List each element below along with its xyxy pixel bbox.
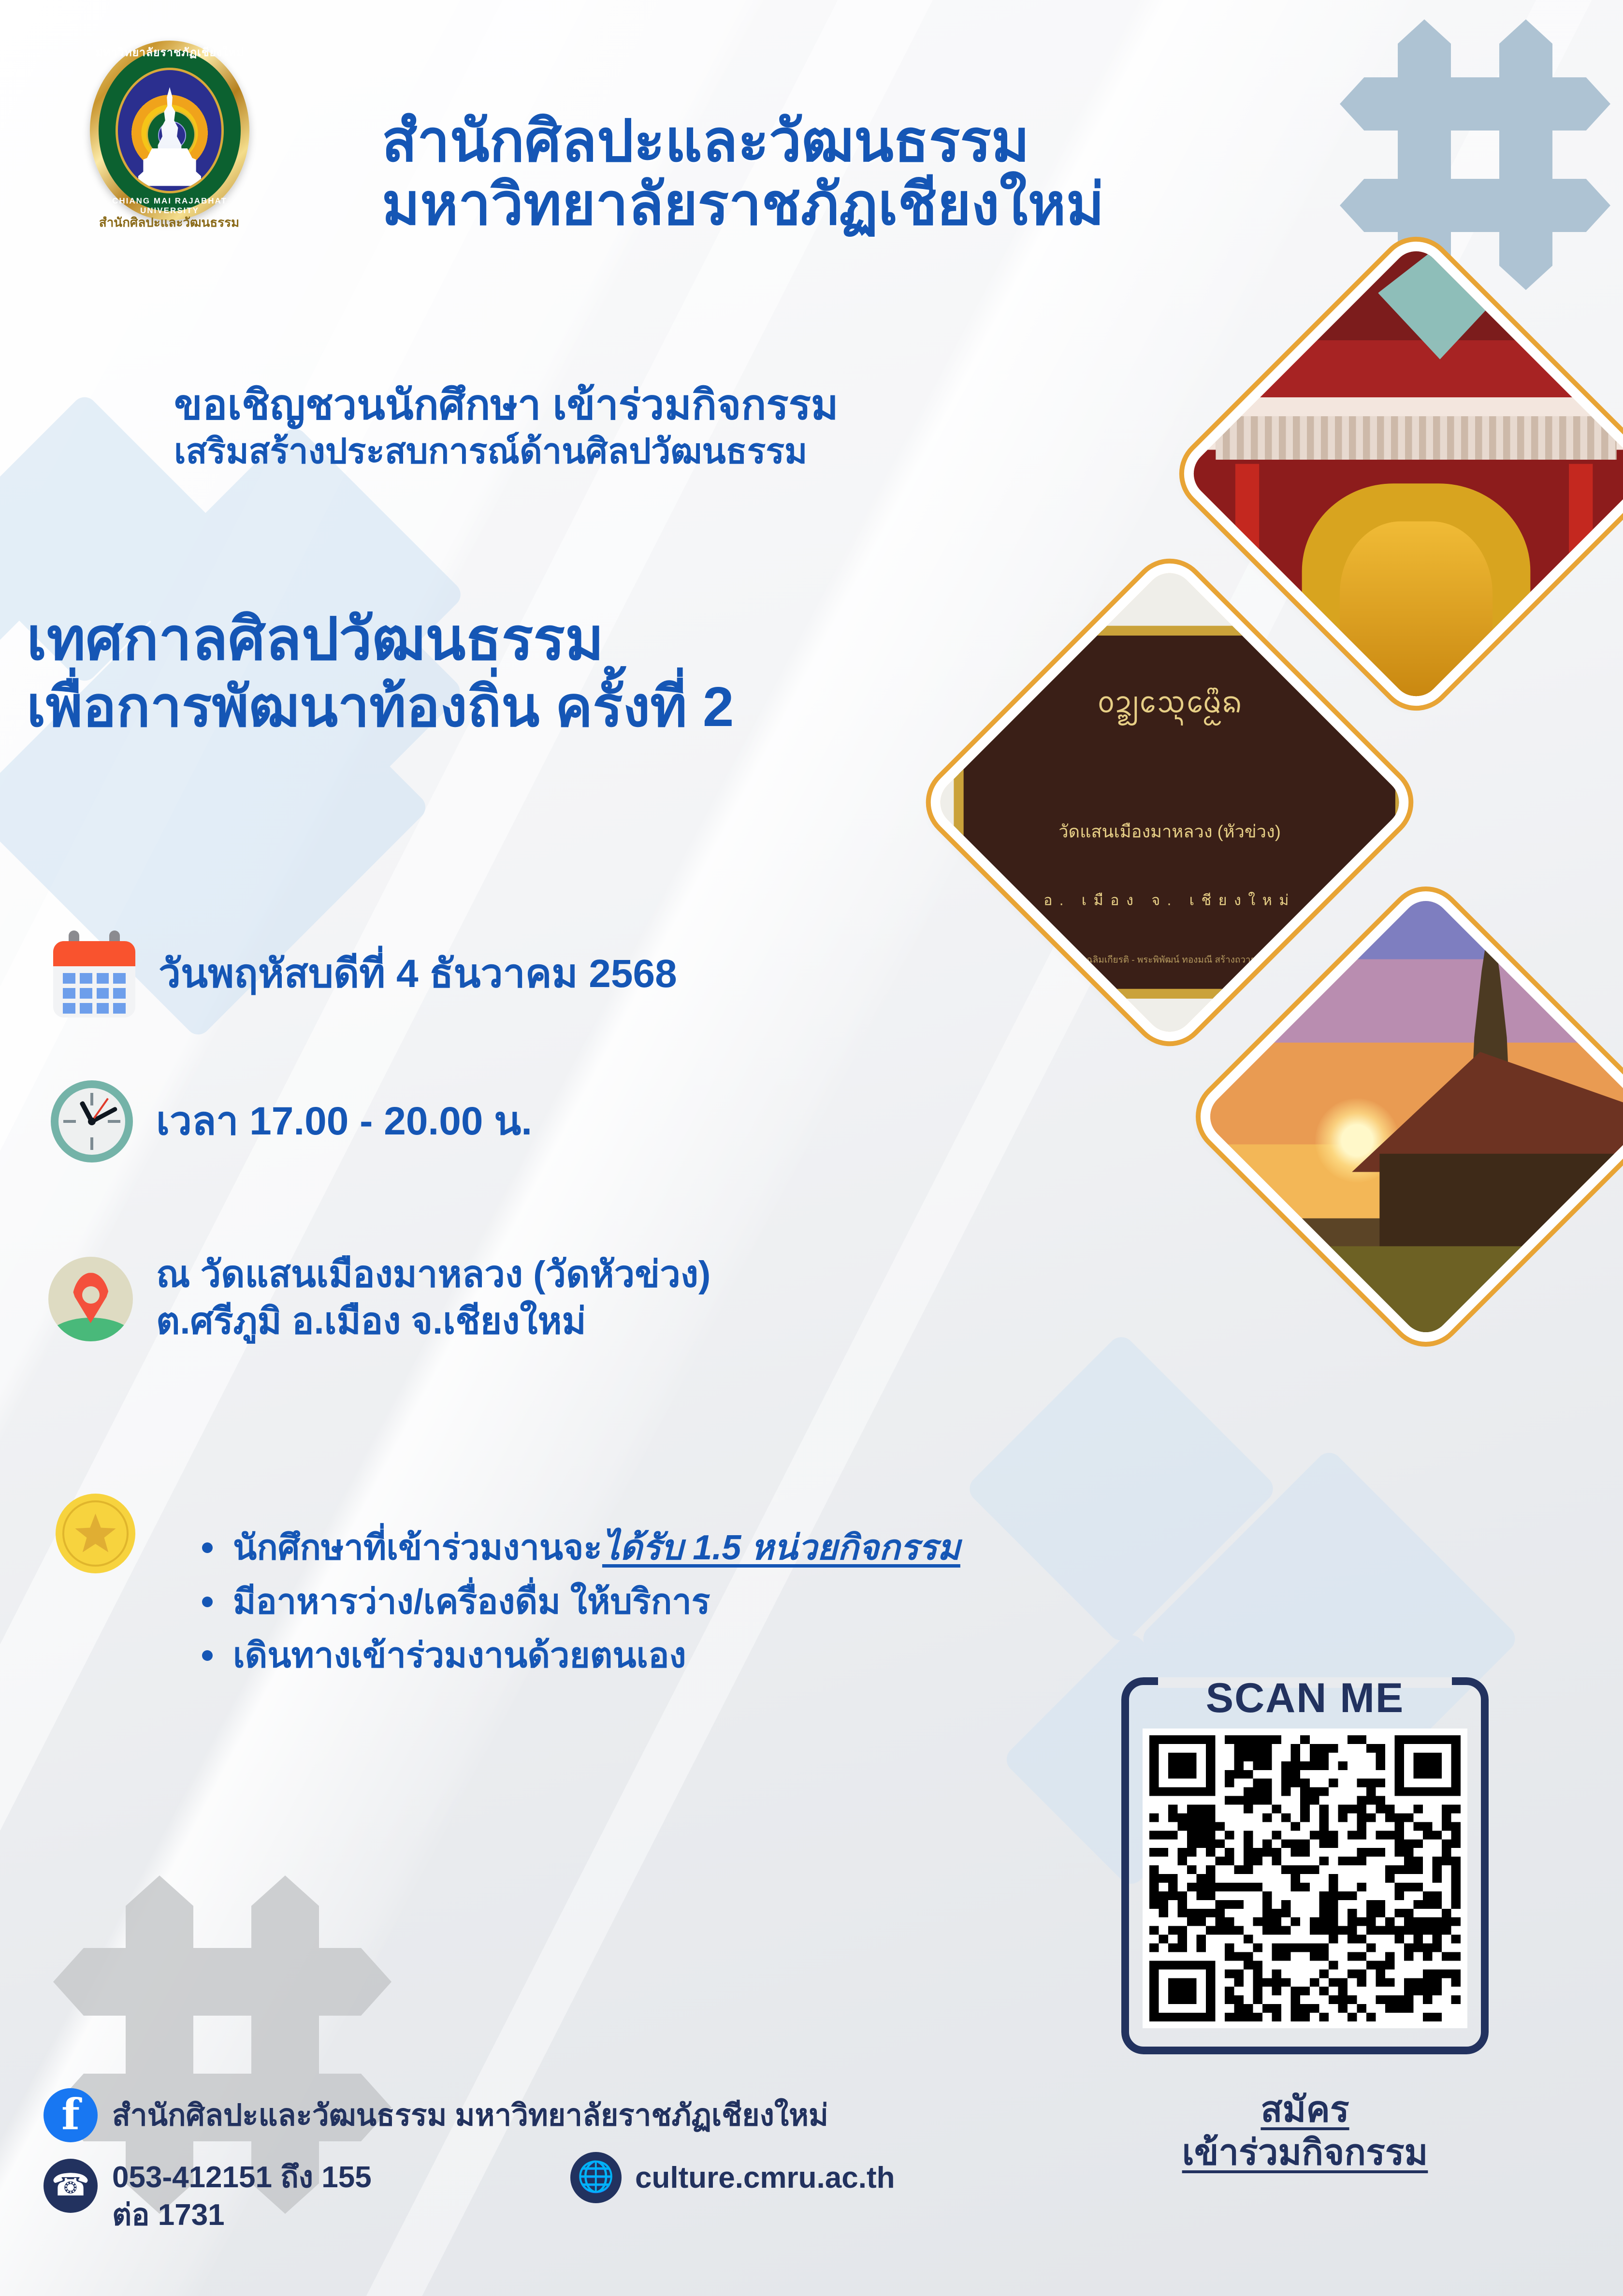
notes-list: นักศึกษาที่เข้าร่วมงานจะได้รับ 1.5 หน่วย… <box>174 1521 960 1683</box>
cmru-watermark <box>0 435 648 1189</box>
poster-canvas: มหาวิทยาลัยราชภัฏเชียงใหม่ CHIANG MAI RA… <box>0 0 1623 2296</box>
note-3-text: เดินทางเข้าร่วมงานด้วยตนเอง <box>233 1636 686 1675</box>
invite-line2: เสริมสร้างประสบการณ์ด้านศิลปวัฒนธรรม <box>174 432 839 471</box>
cmru-seal-logo: มหาวิทยาลัยราชภัฏเชียงใหม่ CHIANG MAI RA… <box>90 41 249 220</box>
list-item: เดินทางเข้าร่วมงานด้วยตนเอง <box>193 1629 960 1683</box>
note-2-text: มีอาหารว่าง/เครื่องดื่ม ให้บริการ <box>233 1583 710 1621</box>
seal-subtitle: สำนักศิลปะและวัฒนธรรม <box>72 213 266 233</box>
clock-icon <box>51 1080 133 1163</box>
facebook-row[interactable]: สำนักศิลปะและวัฒนธรรม มหาวิทยาลัยราชภัฏเ… <box>43 2088 828 2142</box>
qr-code-block[interactable]: SCAN ME <box>1121 1677 1489 2054</box>
globe-icon <box>570 2152 622 2203</box>
list-item: นักศึกษาที่เข้าร่วมงานจะได้รับ 1.5 หน่วย… <box>193 1521 960 1575</box>
sign-credit: เฉลิมเกียรติ - พระพิพัฒน์ ทองมณี สร้างถว… <box>1083 952 1256 967</box>
lanna-hash-motif-top-right <box>1340 19 1610 290</box>
time-row: เวลา 17.00 - 20.00 น. <box>51 1080 532 1163</box>
date-row: วันพฤหัสบดีที่ 4 ธันวาคม 2568 <box>53 930 677 1017</box>
sign-district: อ. เมือง จ. เชียงใหม่ <box>1043 889 1296 912</box>
seal-thai-ring-text: มหาวิทยาลัยราชภัฏเชียงใหม่ <box>90 44 249 61</box>
note-1-prefix: นักศึกษาที่เข้าร่วมงานจะ <box>233 1528 602 1567</box>
photo-temple-sign: ᩅᨯ᩠ᨰᩈᩮ᩠ᨶᨾᩮᩬᩨᨦ วัดแสนเมืองมาหลวง (หัวข่วง… <box>930 563 1409 1042</box>
gold-star-coin-icon <box>56 1494 135 1573</box>
invite-line1: ขอเชิญชวนนักศึกษา เข้าร่วมกิจกรรม <box>174 382 839 428</box>
event-title: เทศกาลศิลปวัฒนธรรม เพื่อการพัฒนาท้องถิ่น… <box>27 607 734 738</box>
photo-temple-sunset <box>1200 891 1623 1342</box>
qr-cta-line2: เข้าร่วมกิจกรรม <box>1182 2132 1428 2172</box>
footer-contact: สำนักศิลปะและวัฒนธรรม มหาวิทยาลัยราชภัฏเ… <box>43 2088 828 2234</box>
location-row: ณ วัดแสนเมืองมาหลวง (วัดหัวข่วง) ต.ศรีภู… <box>48 1257 710 1342</box>
sign-lanna-text: ᩅᨯ᩠ᨰᩈᩮ᩠ᨶᨾᩮᩬᩨᨦ <box>1097 681 1242 727</box>
list-item: มีอาหารว่าง/เครื่องดื่ม ให้บริการ <box>193 1575 960 1629</box>
facebook-page-name: สำนักศิลปะและวัฒนธรรม มหาวิทยาลัยราชภัฏเ… <box>112 2092 828 2139</box>
map-pin-icon <box>48 1257 133 1341</box>
facebook-icon <box>43 2088 98 2142</box>
phone-line1: 053-412151 ถึง 155 <box>112 2159 372 2196</box>
org-title-line2: มหาวิทยาลัยราชภัฏเชียงใหม่ <box>382 174 1104 235</box>
invitation-text: ขอเชิญชวนนักศึกษา เข้าร่วมกิจกรรม เสริมส… <box>174 382 839 471</box>
qr-code-image[interactable] <box>1143 1729 1467 2028</box>
qr-cta-line1: สมัคร <box>1261 2089 1349 2129</box>
phone-line2: ต่อ 1731 <box>112 2196 372 2234</box>
event-date: วันพฤหัสบดีที่ 4 ธันวาคม 2568 <box>159 952 677 996</box>
location-line1: ณ วัดแสนเมืองมาหลวง (วัดหัวข่วง) <box>156 1254 710 1295</box>
website-row[interactable]: culture.cmru.ac.th <box>570 2152 895 2203</box>
event-time: เวลา 17.00 - 20.00 น. <box>156 1099 532 1144</box>
scan-me-label: SCAN ME <box>1121 1674 1489 1722</box>
org-title-line1: สำนักศิลปะและวัฒนธรรม <box>382 111 1104 172</box>
event-title-line2: เพื่อการพัฒนาท้องถิ่น ครั้งที่ 2 <box>27 676 734 738</box>
photo-buddha-shrine <box>1184 241 1623 706</box>
organization-title: สำนักศิลปะและวัฒนธรรม มหาวิทยาลัยราชภัฏเ… <box>382 111 1104 235</box>
note-1-emphasis: ได้รับ 1.5 หน่วยกิจกรรม <box>602 1528 960 1567</box>
phone-icon <box>43 2159 98 2213</box>
event-title-line1: เทศกาลศิลปวัฒนธรรม <box>27 607 734 671</box>
qr-call-to-action[interactable]: สมัคร เข้าร่วมกิจกรรม <box>1112 2088 1498 2174</box>
sign-thai-name: วัดแสนเมืองมาหลวง (หัวข่วง) <box>1058 818 1281 846</box>
location-line2: ต.ศรีภูมิ อ.เมือง จ.เชียงใหม่ <box>156 1301 710 1342</box>
phone-row[interactable]: 053-412151 ถึง 155 ต่อ 1731 culture.cmru… <box>43 2159 828 2234</box>
phone-numbers: 053-412151 ถึง 155 ต่อ 1731 <box>112 2159 372 2234</box>
event-location: ณ วัดแสนเมืองมาหลวง (วัดหัวข่วง) ต.ศรีภู… <box>156 1254 710 1342</box>
website-url: culture.cmru.ac.th <box>635 2161 895 2195</box>
calendar-icon <box>53 930 135 1017</box>
